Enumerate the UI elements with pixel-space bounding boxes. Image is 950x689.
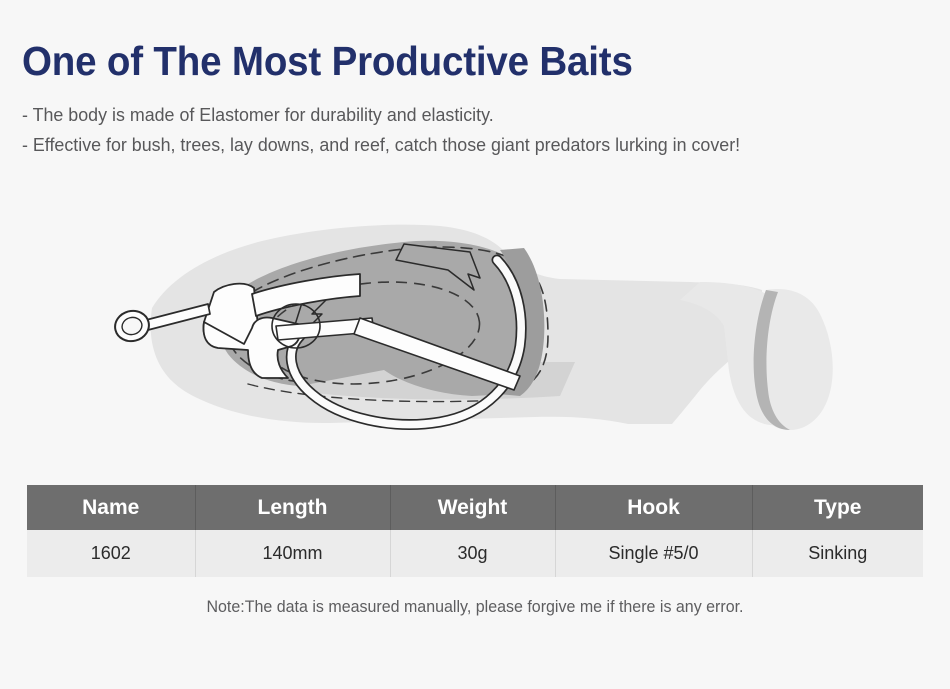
spec-column-header-hook: Hook xyxy=(555,485,752,530)
heading-block: One of The Most Productive Baits - The b… xyxy=(22,40,932,160)
spec-column-header-length: Length xyxy=(195,485,390,530)
spec-cell-length: 140mm xyxy=(195,530,390,577)
bait-illustration-svg xyxy=(0,186,950,468)
page-title: One of The Most Productive Baits xyxy=(22,40,877,83)
feature-bullet-1: - The body is made of Elastomer for dura… xyxy=(22,100,900,130)
feature-bullet-2: - Effective for bush, trees, lay downs, … xyxy=(22,130,900,160)
bait-illustration xyxy=(0,186,950,468)
feature-bullet-list: - The body is made of Elastomer for dura… xyxy=(22,100,932,160)
spec-table-wrap: Name Length Weight Hook Type 1602 140mm … xyxy=(27,485,923,577)
spec-column-header-name: Name xyxy=(27,485,195,530)
spec-column-header-weight: Weight xyxy=(390,485,555,530)
spec-column-header-type: Type xyxy=(752,485,923,530)
spec-cell-hook: Single #5/0 xyxy=(555,530,752,577)
product-detail-page: One of The Most Productive Baits - The b… xyxy=(0,0,950,689)
spec-table-header-row: Name Length Weight Hook Type xyxy=(27,485,923,530)
spec-cell-name: 1602 xyxy=(27,530,195,577)
measurement-note: Note:The data is measured manually, plea… xyxy=(14,598,936,617)
spec-cell-weight: 30g xyxy=(390,530,555,577)
spec-table-row: 1602 140mm 30g Single #5/0 Sinking xyxy=(27,530,923,577)
spec-cell-type: Sinking xyxy=(752,530,923,577)
spec-table: Name Length Weight Hook Type 1602 140mm … xyxy=(27,485,923,577)
